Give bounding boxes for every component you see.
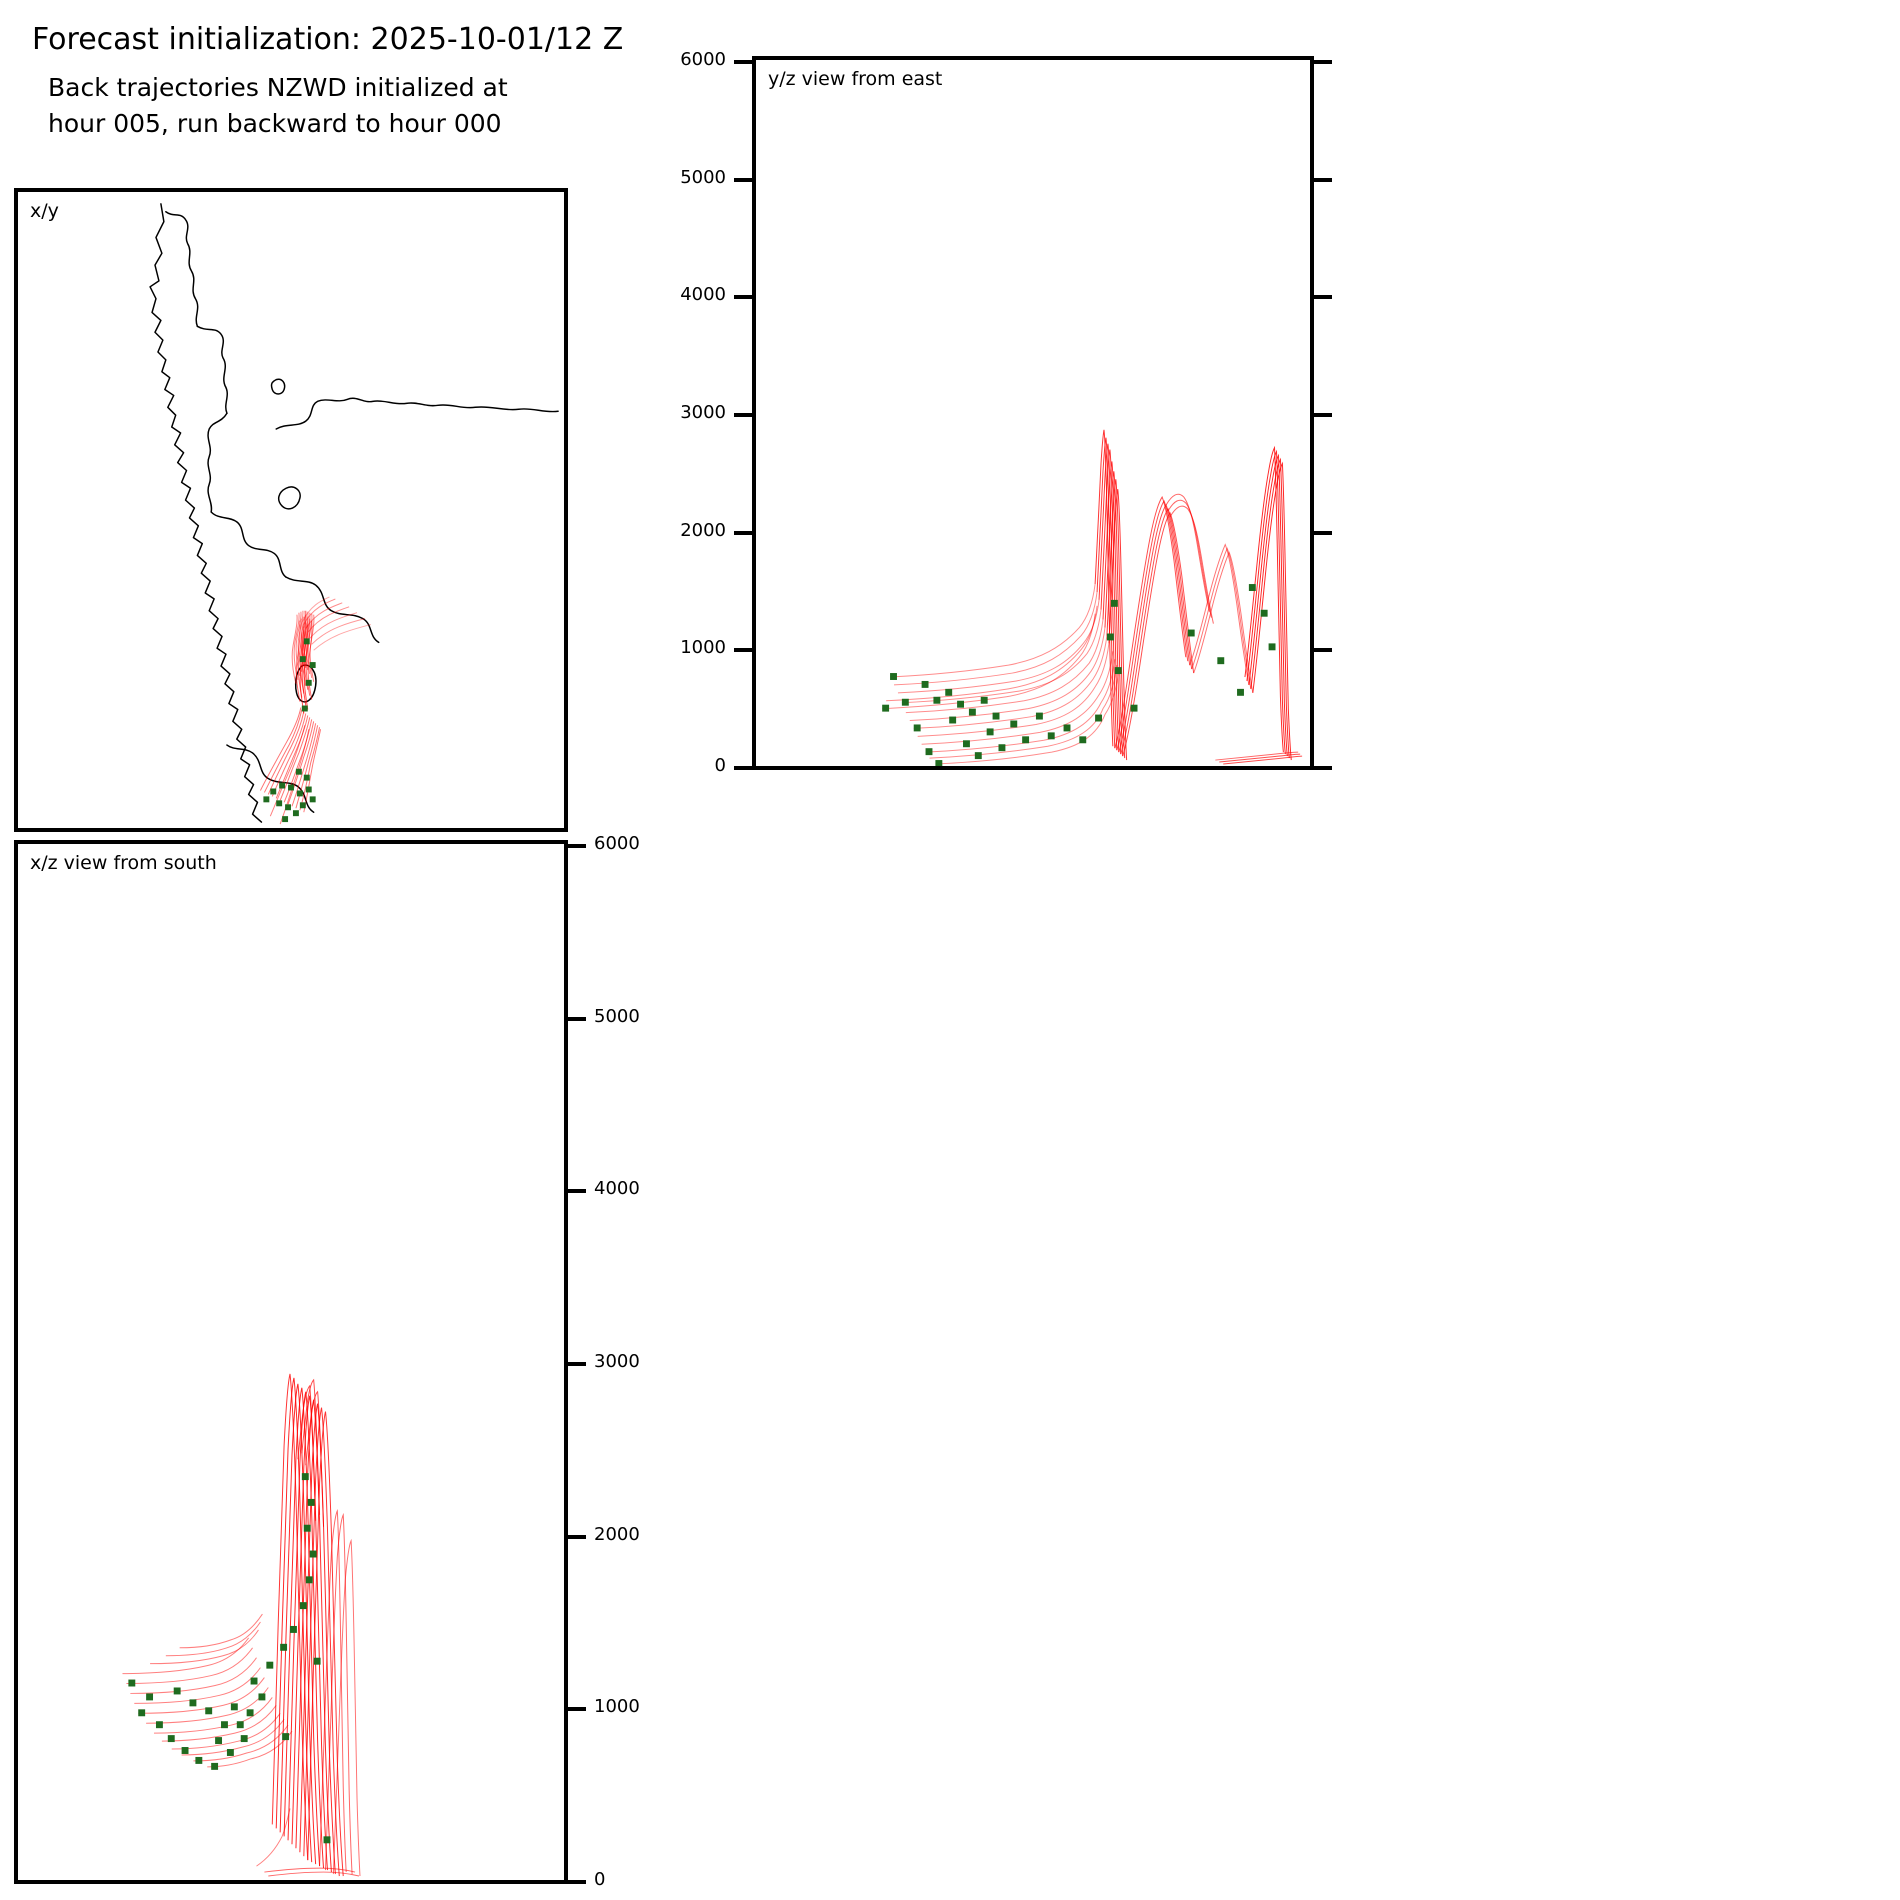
- marker: [998, 744, 1005, 751]
- marker: [276, 800, 282, 806]
- marker: [300, 656, 306, 662]
- axis-tick: [734, 766, 756, 770]
- marker: [182, 1747, 189, 1754]
- marker: [324, 1836, 331, 1843]
- marker: [241, 1735, 248, 1742]
- marker: [304, 638, 310, 644]
- marker: [957, 701, 964, 708]
- marker: [882, 705, 889, 712]
- axis-tick: [734, 178, 756, 182]
- trajectory-bundle-xy: [260, 597, 370, 824]
- page-subtitle-line2: hour 005, run backward to hour 000: [48, 106, 508, 142]
- marker: [1188, 630, 1195, 637]
- marker: [1048, 732, 1055, 739]
- axis-tick: [1310, 531, 1332, 535]
- marker: [304, 775, 310, 781]
- coastline-detail-group: [166, 212, 558, 812]
- marker: [1269, 643, 1276, 650]
- axis-tick-label: 2000: [594, 1526, 640, 1544]
- panel-yz-cross-section: y/z view from east 010002000300040005000…: [752, 56, 1314, 770]
- marker: [310, 1551, 317, 1558]
- axis-tick-label: 6000: [680, 51, 726, 69]
- panel-yz-plot-area: [756, 60, 1310, 766]
- marker: [926, 748, 933, 755]
- marker: [304, 1525, 311, 1532]
- axis-tick: [1310, 60, 1332, 64]
- marker: [231, 1703, 238, 1710]
- coastline-path-bay: [208, 413, 227, 512]
- marker: [1131, 705, 1138, 712]
- panel-yz-label: y/z view from east: [768, 68, 942, 90]
- axis-tick-label: 2000: [680, 522, 726, 540]
- marker: [290, 1626, 297, 1633]
- axis-tick: [1310, 766, 1332, 770]
- marker: [1079, 736, 1086, 743]
- marker: [987, 728, 994, 735]
- axis-tick: [734, 413, 756, 417]
- marker: [156, 1721, 163, 1728]
- marker: [296, 769, 302, 775]
- trajectory-bundle-xz: [122, 1374, 360, 1876]
- marker: [189, 1699, 196, 1706]
- marker: [168, 1735, 175, 1742]
- marker: [306, 787, 312, 793]
- xz-plot-svg: [18, 844, 564, 1880]
- axis-tick: [564, 1707, 586, 1711]
- axis-tick: [734, 648, 756, 652]
- marker: [300, 802, 306, 808]
- marker: [237, 1721, 244, 1728]
- marker: [258, 1693, 265, 1700]
- marker: [293, 810, 299, 816]
- marker: [922, 681, 929, 688]
- coastline-path-peninsula: [197, 326, 227, 413]
- marker: [1111, 600, 1118, 607]
- marker: [211, 1763, 218, 1770]
- marker: [1107, 634, 1114, 641]
- marker: [251, 1678, 258, 1685]
- panel-xz-plot-area: [18, 844, 564, 1880]
- axis-tick-label: 1000: [680, 639, 726, 657]
- marker: [221, 1721, 228, 1728]
- marker: [1022, 736, 1029, 743]
- axis-tick: [564, 1880, 586, 1884]
- marker: [205, 1707, 212, 1714]
- coastline-path-islet: [272, 379, 285, 394]
- marker: [174, 1687, 181, 1694]
- coastline-path-island: [279, 487, 300, 509]
- marker: [297, 790, 303, 796]
- axis-tick: [564, 844, 586, 848]
- coastline-group: [150, 204, 261, 822]
- axis-tick-label: 5000: [680, 169, 726, 187]
- marker: [302, 1473, 309, 1480]
- marker: [1237, 689, 1244, 696]
- axis-tick-label: 0: [715, 757, 726, 775]
- axis-tick: [734, 295, 756, 299]
- marker: [280, 1644, 287, 1651]
- axis-tick: [564, 1017, 586, 1021]
- marker: [279, 783, 285, 789]
- marker: [975, 752, 982, 759]
- axis-tick-label: 3000: [594, 1353, 640, 1371]
- marker: [266, 1662, 273, 1669]
- coastline-path-north: [166, 212, 198, 327]
- marker: [314, 1658, 321, 1665]
- marker: [306, 680, 312, 686]
- marker: [969, 709, 976, 716]
- marker: [288, 785, 294, 791]
- panel-xy-label: x/y: [30, 200, 59, 222]
- axis-tick: [734, 60, 756, 64]
- marker: [146, 1693, 153, 1700]
- marker: [1115, 667, 1122, 674]
- marker: [1036, 713, 1043, 720]
- axis-tick: [564, 1189, 586, 1193]
- trajectory-bundle-yz: [882, 430, 1302, 764]
- marker: [215, 1737, 222, 1744]
- page-subtitle: Back trajectories NZWD initialized at ho…: [48, 70, 508, 142]
- axis-tick: [564, 1535, 586, 1539]
- axis-tick-label: 3000: [680, 404, 726, 422]
- marker: [302, 706, 308, 712]
- coastline-path-main: [150, 204, 261, 822]
- marker: [1249, 584, 1256, 591]
- marker: [308, 1499, 315, 1506]
- axis-tick-label: 1000: [594, 1698, 640, 1716]
- marker: [282, 1733, 289, 1740]
- marker: [963, 740, 970, 747]
- marker: [1261, 610, 1268, 617]
- marker: [1064, 724, 1071, 731]
- axis-tick-label: 5000: [594, 1008, 640, 1026]
- marker: [306, 1576, 313, 1583]
- marker: [227, 1749, 234, 1756]
- marker: [890, 673, 897, 680]
- panel-xy-map: x/y: [14, 188, 568, 832]
- marker: [933, 697, 940, 704]
- marker: [1095, 715, 1102, 722]
- marker: [935, 760, 942, 766]
- axis-tick: [1310, 178, 1332, 182]
- marker: [310, 662, 316, 668]
- marker: [949, 717, 956, 724]
- marker: [282, 816, 288, 822]
- panel-xy-plot-area: [18, 192, 564, 828]
- marker: [981, 697, 988, 704]
- marker: [902, 699, 909, 706]
- marker: [1217, 657, 1224, 664]
- axis-tick: [1310, 413, 1332, 417]
- marker: [138, 1709, 145, 1716]
- axis-tick-label: 0: [594, 1871, 605, 1889]
- axis-tick-label: 4000: [680, 286, 726, 304]
- marker: [128, 1680, 135, 1687]
- axis-tick: [1310, 648, 1332, 652]
- page-subtitle-line1: Back trajectories NZWD initialized at: [48, 70, 508, 106]
- axis-tick: [734, 531, 756, 535]
- marker: [285, 804, 291, 810]
- marker: [270, 788, 276, 794]
- marker: [914, 724, 921, 731]
- axis-tick: [1310, 295, 1332, 299]
- marker: [195, 1757, 202, 1764]
- panel-xz-cross-section: x/z view from south 01000200030004000500…: [14, 840, 568, 1884]
- axis-tick-label: 4000: [594, 1180, 640, 1198]
- xy-plot-svg: [18, 192, 564, 828]
- axis-tick-label: 6000: [594, 835, 640, 853]
- marker: [310, 796, 316, 802]
- marker: [300, 1602, 307, 1609]
- marker: [263, 796, 269, 802]
- page-title: Forecast initialization: 2025-10-01/12 Z: [32, 20, 623, 60]
- axis-tick: [564, 1362, 586, 1366]
- marker: [945, 689, 952, 696]
- marker: [247, 1709, 254, 1716]
- marker: [993, 713, 1000, 720]
- yz-plot-svg: [756, 60, 1310, 766]
- panel-xz-label: x/z view from south: [30, 852, 217, 874]
- marker: [1010, 721, 1017, 728]
- coastline-path-gulf: [276, 398, 558, 429]
- coastline-path-harbour: [211, 512, 286, 577]
